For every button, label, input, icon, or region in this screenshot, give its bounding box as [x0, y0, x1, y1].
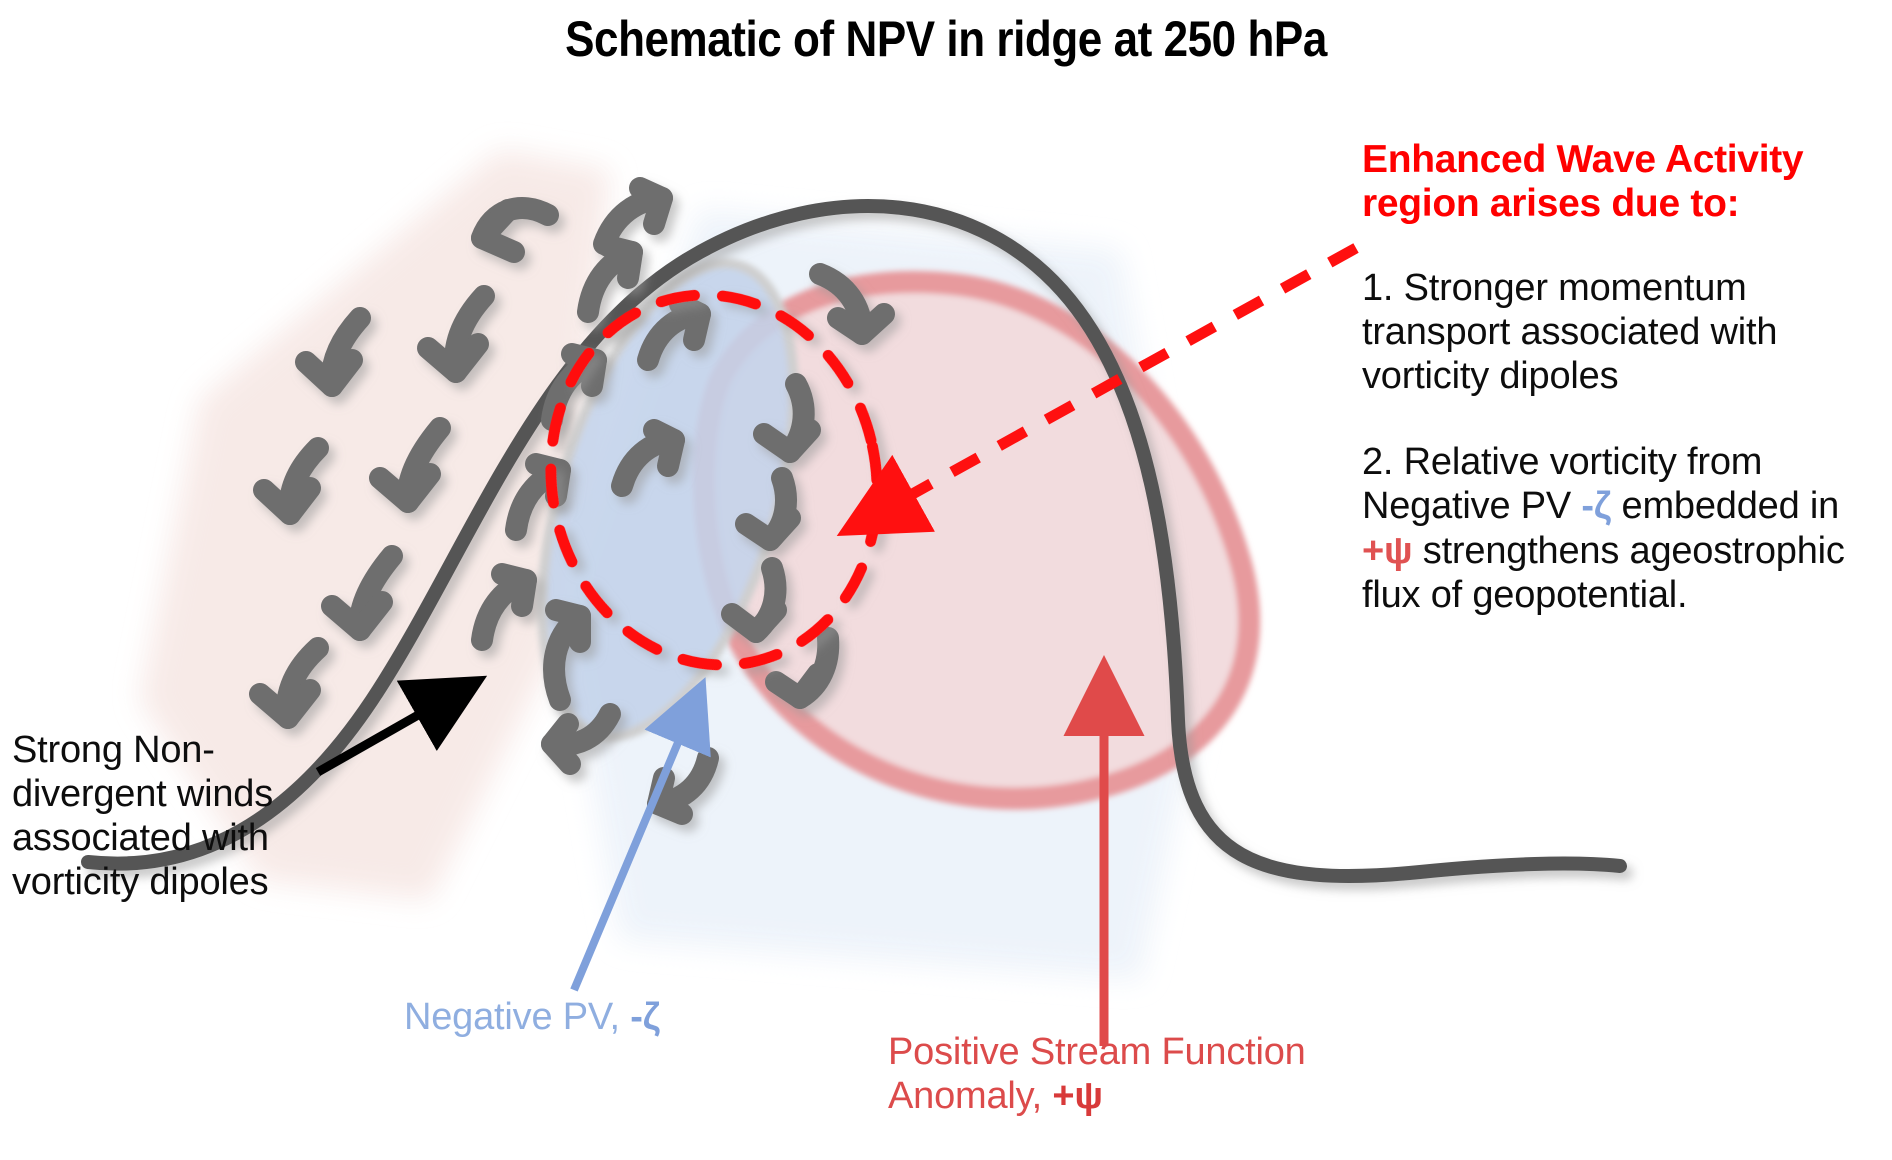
- page-title: Schematic of NPV in ridge at 250 hPa: [114, 10, 1779, 68]
- enhanced-wave-activity-heading: Enhanced Wave Activity region arises due…: [1362, 138, 1888, 226]
- nondivergent-winds-caption: Strong Non-divergent winds associated wi…: [12, 728, 352, 904]
- positive-streamfunction-label-symbol: +ψ: [1052, 1075, 1102, 1117]
- reason-2-mid: embedded in: [1611, 485, 1839, 527]
- zeta-symbol: -ζ: [1581, 485, 1611, 527]
- negative-pv-label: Negative PV, -ζ: [404, 996, 660, 1039]
- reason-item-1: 1. Stronger momentum transport associate…: [1362, 266, 1888, 398]
- positive-streamfunction-label: Positive Stream Function Anomaly, +ψ: [888, 1030, 1358, 1118]
- reason-1-text: 1. Stronger momentum transport associate…: [1362, 267, 1777, 397]
- schematic-canvas: Schematic of NPV in ridge at 250 hPa Enh…: [0, 0, 1892, 1160]
- reason-list: 1. Stronger momentum transport associate…: [1362, 266, 1888, 617]
- reason-2-tail: strengthens ageostrophic flux of geopote…: [1362, 530, 1845, 616]
- wind-arrow: [604, 188, 662, 244]
- reason-item-2: 2. Relative vorticity from Negative PV -…: [1362, 440, 1888, 616]
- right-text-column: Enhanced Wave Activity region arises due…: [1362, 138, 1888, 617]
- psi-symbol: +ψ: [1362, 530, 1412, 572]
- negative-pv-label-text: Negative PV,: [404, 996, 630, 1038]
- negative-pv-label-symbol: -ζ: [630, 996, 660, 1038]
